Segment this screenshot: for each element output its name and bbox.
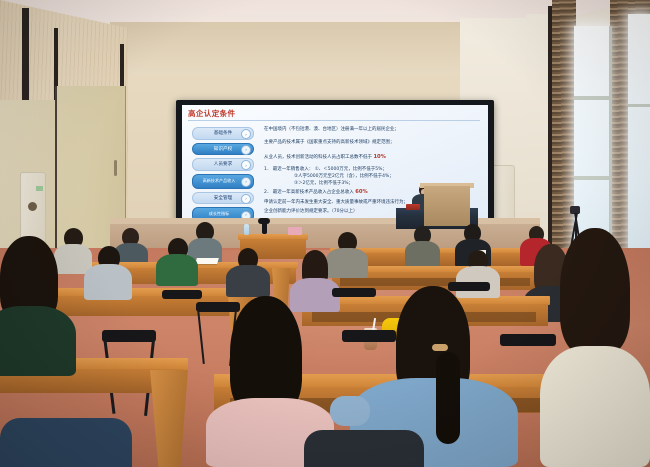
attendee-body <box>0 306 76 376</box>
slide-body-line: 企业创新能力评价达到规定要求。（70分以上） <box>264 210 357 215</box>
attendee-body <box>326 248 368 278</box>
slide-nav-button-0[interactable]: 基础条件 › <box>192 127 254 140</box>
folding-chair <box>500 334 556 346</box>
window-frame <box>574 96 610 100</box>
slide-nav-label: 成长性指标 <box>209 212 229 216</box>
folding-chair <box>448 282 490 291</box>
window-frame <box>574 176 610 180</box>
curtain <box>610 0 630 250</box>
attendee-body <box>540 346 650 467</box>
folding-chair <box>342 330 396 342</box>
attendee-body <box>156 254 198 286</box>
folding-chair <box>196 302 240 312</box>
chevron-right-icon: › <box>241 177 251 187</box>
slide-body-line: 申请认定前一年内未发生重大安全、重大质量事故或严重环境违法行为； <box>264 201 408 206</box>
slide-body-line: 主要产品的技术属于《国家重点支持的高新技术领域》规定范围； <box>264 141 395 146</box>
water-bottle <box>244 224 249 235</box>
notepad <box>195 258 219 264</box>
window <box>628 14 650 254</box>
slide-nav-label: 安全管理 <box>214 195 232 201</box>
slide-nav-button-4[interactable]: 安全管理 › <box>192 192 254 205</box>
microphone-head-icon <box>258 218 270 224</box>
hair-tie <box>432 344 448 351</box>
air-conditioner-dial-icon <box>28 202 37 211</box>
desk-shelf <box>340 278 530 286</box>
attendee-arm <box>330 396 370 426</box>
slide-body-emphasis: 10% <box>373 154 385 160</box>
window-frame <box>609 26 612 256</box>
slide-body-text: 从业人员，技术创新活动的科技人员占职工总数不低于 <box>264 155 373 160</box>
slide-nav-button-5[interactable]: 成长性指标 › <box>192 207 254 218</box>
chevron-right-icon: › <box>241 145 251 155</box>
slide-nav-button-2[interactable]: 人员要求 › <box>192 158 254 171</box>
slide-body-line: 在中国境内（不包括港、澳、台地区）注册满一年以上的居民企业； <box>264 128 399 133</box>
slide-body-line: ②人字5000万元至2亿元（含），比例不低于4%； <box>294 175 394 180</box>
air-conditioner-badge <box>36 186 43 191</box>
attendee-head <box>230 296 302 414</box>
slide-body-line: 1． 最近一年销售收入： ①、＜5000万元，比例不低于5%； <box>264 168 387 173</box>
attendee-body <box>0 418 132 467</box>
chevron-right-icon: › <box>241 129 251 139</box>
chevron-right-icon: › <box>241 211 251 219</box>
slide-title-rule <box>188 120 480 121</box>
slide-title: 高企认定条件 <box>188 108 235 119</box>
slide-body-line: 从业人员，技术创新活动的科技人员占职工总数不低于 10% <box>264 155 386 161</box>
slide-body-line: ③＞2亿元，比例不低于3%； <box>294 182 353 187</box>
slide-nav-label: 高新技术产品收入 <box>203 179 236 183</box>
attendee-body <box>405 241 440 267</box>
folding-chair <box>102 330 156 342</box>
tissue-box <box>288 227 302 235</box>
slide-nav-list: 基础条件 › 知识产权 › 人员要求 › 高新技术产品收入 › 安全管理 › 成… <box>192 127 254 218</box>
attendee-body <box>226 265 270 297</box>
window <box>574 26 610 256</box>
chevron-right-icon: › <box>241 194 251 204</box>
lecture-hall-photo: 高企认定条件 基础条件 › 知识产权 › 人员要求 › 高新技术产品收入 › 安… <box>0 0 650 467</box>
slide-nav-label: 人员要求 <box>214 161 232 167</box>
slide-body-emphasis: 60% <box>355 189 367 195</box>
attendee-body <box>84 264 132 300</box>
attendee-body <box>304 430 424 467</box>
slide-nav-button-3[interactable]: 高新技术产品收入 › <box>192 174 254 189</box>
lectern <box>424 186 470 226</box>
slide-body-line: 2． 最近一年高新技术产品收入占企业总收入 60% <box>264 190 368 196</box>
name-placard <box>406 204 420 210</box>
folding-chair <box>332 288 376 297</box>
door-handle-icon <box>114 160 117 176</box>
slide-nav-label: 知识产权 <box>214 146 232 152</box>
chevron-right-icon: › <box>241 160 251 170</box>
slide-nav-label: 基础条件 <box>214 130 232 136</box>
window-frame <box>628 104 650 107</box>
folding-chair <box>162 290 202 299</box>
attendee-head <box>560 228 630 354</box>
ponytail <box>436 352 460 444</box>
slide-nav-button-1[interactable]: 知识产权 › <box>192 143 254 156</box>
slide-body-text: 2． 最近一年高新技术产品收入占企业总收入 <box>264 190 355 195</box>
